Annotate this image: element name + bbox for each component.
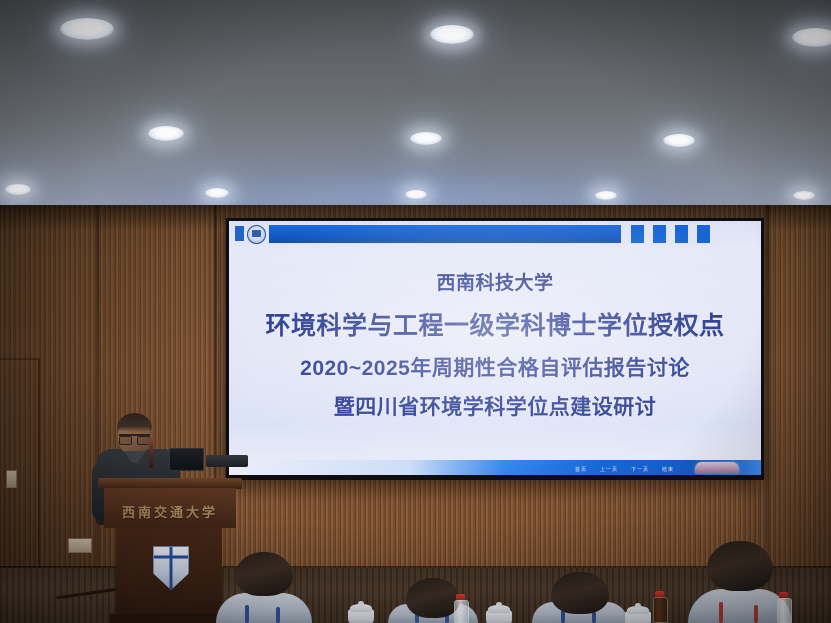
lectern-front-face: 西南交通大学 <box>104 488 236 528</box>
teacup-1 <box>348 609 374 623</box>
attendee-head <box>551 572 609 614</box>
slide-footer-nav-item[interactable]: 结束 <box>662 466 674 473</box>
microphone-stem <box>149 442 153 468</box>
sponsor-logo-text <box>695 462 739 474</box>
ceiling-downlight-11 <box>793 191 815 200</box>
presenter-hair <box>117 413 152 432</box>
ceiling-downlight-6 <box>663 134 695 147</box>
conference-hall-photo: 西南科技大学 环境科学与工程一级学科博士学位授权点 2020~2025年周期性合… <box>0 0 831 623</box>
slide-header-band <box>229 221 761 247</box>
ceiling-downlight-5 <box>410 132 442 145</box>
bottle-body <box>454 600 469 623</box>
wall-outlet-plate[interactable] <box>6 470 17 488</box>
slide-footer-bar: 首页上一页下一页结束 <box>229 460 761 475</box>
header-decor-bar <box>631 225 644 243</box>
university-crest-icon <box>153 546 189 590</box>
university-emblem-icon <box>247 225 266 244</box>
podium-control-panel[interactable] <box>206 455 248 467</box>
header-square-icon <box>235 226 244 241</box>
slide-main-title: 环境科学与工程一级学科博士学位授权点 <box>229 306 761 342</box>
slide-text-body: 西南科技大学 环境科学与工程一级学科博士学位授权点 2020~2025年周期性合… <box>229 247 761 449</box>
sponsor-logo-icon <box>695 462 739 474</box>
glasses-icon <box>119 434 150 444</box>
bottle-body <box>653 597 668 623</box>
slide-footer-nav-item[interactable]: 上一页 <box>600 466 618 473</box>
water-bottle-1 <box>454 594 467 623</box>
attendee-lanyard <box>592 612 596 623</box>
attendee-lanyard <box>754 605 758 623</box>
slide-footer-nav[interactable]: 首页上一页下一页结束 <box>575 466 674 473</box>
ceiling-downlight-8 <box>205 188 229 198</box>
teacup-3 <box>625 611 651 623</box>
header-bar <box>269 225 621 243</box>
header-decor-bar <box>653 225 666 243</box>
ceiling-downlight-2 <box>430 25 474 44</box>
water-bottle-3 <box>777 592 790 623</box>
attendee-lanyard <box>719 602 723 623</box>
ceiling-downlight-10 <box>595 191 617 200</box>
slide-organization-line: 西南科技大学 <box>229 268 761 295</box>
teacup-2 <box>486 610 512 623</box>
attendee-lanyard <box>245 605 249 623</box>
attendee-head <box>235 552 293 596</box>
slide-footer-nav-item[interactable]: 首页 <box>575 466 587 473</box>
teacup-knob <box>635 603 641 608</box>
lectern-body <box>116 528 222 623</box>
attendee-3 <box>532 572 628 623</box>
light-switch-plate[interactable] <box>68 538 92 553</box>
slide-subtitle-2: 暨四川省环境学科学位点建设研讨 <box>229 391 761 421</box>
slide-subtitle-1: 2020~2025年周期性合格自评估报告讨论 <box>229 352 761 382</box>
ceiling-downlight-1 <box>60 18 114 40</box>
attendee-1 <box>216 552 312 623</box>
lectern-base <box>110 614 228 623</box>
bottle-body <box>777 598 792 623</box>
ceiling-downlight-9 <box>405 190 427 199</box>
projection-screen: 西南科技大学 环境科学与工程一级学科博士学位授权点 2020~2025年周期性合… <box>229 221 761 475</box>
attendee-head <box>707 541 773 591</box>
attendee-shoulders <box>216 593 312 623</box>
attendee-head <box>406 578 460 618</box>
ceiling-downlight-3 <box>792 28 831 47</box>
header-decor-bar <box>697 225 710 243</box>
header-decor-bar <box>675 225 688 243</box>
attendee-lanyard <box>276 607 280 623</box>
teacup-knob <box>496 602 502 607</box>
teacup-knob <box>358 601 364 606</box>
water-bottle-2 <box>653 591 666 623</box>
slide-footer-nav-item[interactable]: 下一页 <box>631 466 649 473</box>
ceiling-downlight-4 <box>148 126 184 141</box>
crest-mark <box>154 547 188 589</box>
laptop-screen <box>169 448 204 471</box>
lectern-nameplate: 西南交通大学 <box>104 502 236 521</box>
ceiling-downlight-7 <box>5 184 31 195</box>
laptop[interactable] <box>166 448 204 472</box>
